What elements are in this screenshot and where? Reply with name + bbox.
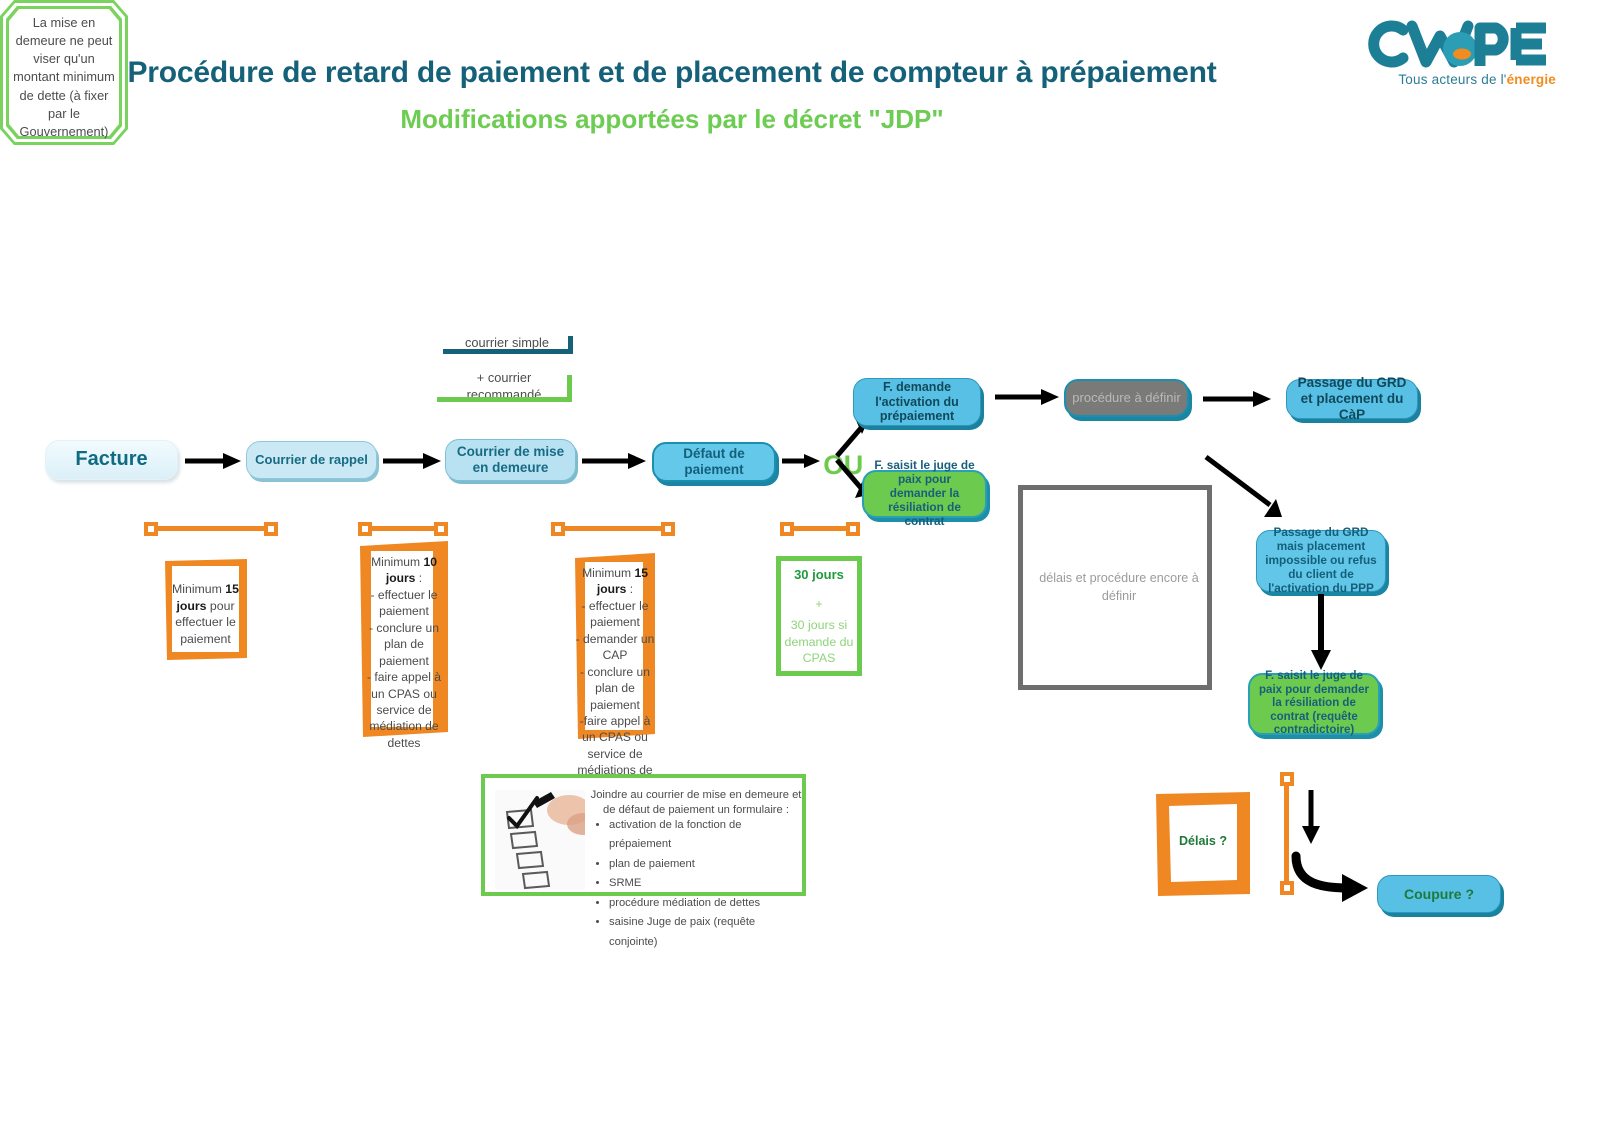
node-facture[interactable]: Facture: [45, 440, 178, 480]
list-item: saisine Juge de paix (requête conjointe): [609, 913, 802, 952]
grey-placeholder-box: délais et procédure encore à définir: [1018, 485, 1212, 690]
checklist-photo: [495, 790, 585, 890]
node-coupure[interactable]: Coupure ?: [1377, 875, 1501, 913]
timeline-bracket-facture[interactable]: [144, 521, 278, 537]
cwape-logo: Tous acteurs de l'énergie: [1356, 16, 1556, 100]
delay-box-10-jours-rappel: Minimum 10 jours : - effectuer le paieme…: [360, 541, 448, 737]
arrow-impossible-to-juge2: [1310, 594, 1332, 672]
delay-box-15-jours-facture-text: Minimum 15 jours pour effectuer le paiem…: [172, 581, 239, 648]
delay-box-30-jours-title: 30 jours: [781, 567, 857, 582]
delais-box-label: Délais ?: [1169, 834, 1237, 848]
list-item: plan de paiement: [609, 855, 802, 874]
checklist-items: activation de la fonction de prépaiement…: [595, 816, 802, 952]
page-subtitle: Modifications apportées par le décret "J…: [22, 105, 1322, 134]
list-item: SRME: [609, 874, 802, 893]
timeline-bracket-defaut[interactable]: [780, 521, 860, 537]
delay-box-10-jours-rappel-text: Minimum 10 jours : - effectuer le paieme…: [360, 554, 448, 751]
checklist-header: Joindre au courrier de mise en demeure e…: [590, 788, 802, 818]
callout-mise-en-demeure: La mise en demeure ne peut viser qu'un m…: [0, 0, 128, 145]
delay-box-30-jours: 30 jours + 30 jours si demande du CPAS: [776, 556, 862, 676]
cwape-wordmark-icon: [1356, 16, 1556, 72]
delais-question-box: Délais ?: [1156, 792, 1250, 896]
list-item: activation de la fonction de prépaiement: [609, 816, 802, 855]
timeline-bracket-demeure[interactable]: [551, 521, 675, 537]
arrow-rappel-to-demeure: [383, 452, 443, 470]
logo-tagline-prefix: Tous acteurs de l': [1398, 72, 1506, 87]
node-courrier-rappel[interactable]: Courrier de rappel: [246, 441, 377, 479]
node-saisit-juge-1[interactable]: F. saisit le juge de paix pour demander …: [862, 470, 987, 518]
delay-box-15-jours-demeure-text: Minimum 15 jours : - effectuer le paieme…: [573, 565, 657, 795]
arrow-curve-to-coupure: [1288, 850, 1374, 908]
node-courrier-mise-en-demeure[interactable]: Courrier de mise en demeure: [445, 439, 576, 481]
node-procedure-a-definir[interactable]: procédure à définir: [1064, 379, 1189, 417]
logo-tagline-accent: énergie: [1507, 72, 1556, 87]
legend-bar-courrier-simple: [443, 349, 573, 354]
node-passage-grd-impossible[interactable]: Passage du GRD mais placement impossible…: [1256, 530, 1386, 592]
timeline-bracket-rappel[interactable]: [358, 521, 448, 537]
arrow-demeure-to-defaut: [582, 452, 648, 470]
delay-box-30-jours-note: 30 jours si demande du CPAS: [781, 617, 857, 667]
arrow-activation-to-procedure: [995, 388, 1061, 406]
grey-placeholder-text: délais et procédure encore à définir: [1037, 570, 1201, 605]
arrow-defaut-to-ou: [782, 453, 822, 469]
logo-tagline: Tous acteurs de l'énergie: [1356, 72, 1556, 87]
diagram-canvas: Procédure de retard de paiement et de pl…: [0, 0, 1600, 1131]
node-saisit-juge-2[interactable]: F. saisit le juge de paix pour demander …: [1248, 673, 1380, 735]
checklist-panel: Joindre au courrier de mise en demeure e…: [481, 774, 806, 896]
node-defaut-paiement[interactable]: Défaut de paiement: [652, 442, 776, 482]
page-title: Procédure de retard de paiement et de pl…: [22, 56, 1322, 89]
arrow-procedure-to-passage: [1203, 390, 1273, 408]
node-demande-activation[interactable]: F. demande l'activation du prépaiement: [853, 378, 981, 426]
timeline-bracket-vertical-coupure[interactable]: [1279, 772, 1295, 895]
node-passage-grd-cap[interactable]: Passage du GRD et placement du CàP: [1286, 379, 1418, 419]
list-item: procédure médiation de dettes: [609, 894, 802, 913]
arrow-juge2-to-coupure-down: [1300, 790, 1322, 846]
legend-bar-recommande-tab: [567, 375, 572, 402]
callout-text: La mise en demeure ne peut viser qu'un m…: [9, 14, 119, 141]
delay-box-15-jours-demeure: Minimum 15 jours : - effectuer le paieme…: [575, 553, 655, 739]
legend-bar-courrier-simple-tab: [568, 336, 573, 354]
delay-box-15-jours-facture: Minimum 15 jours pour effectuer le paiem…: [165, 559, 247, 660]
arrow-facture-to-rappel: [185, 452, 243, 470]
delay-box-30-jours-plus: +: [781, 597, 857, 611]
arrow-passage-to-impossible: [1204, 455, 1290, 523]
legend-bar-recommande: [437, 397, 572, 402]
